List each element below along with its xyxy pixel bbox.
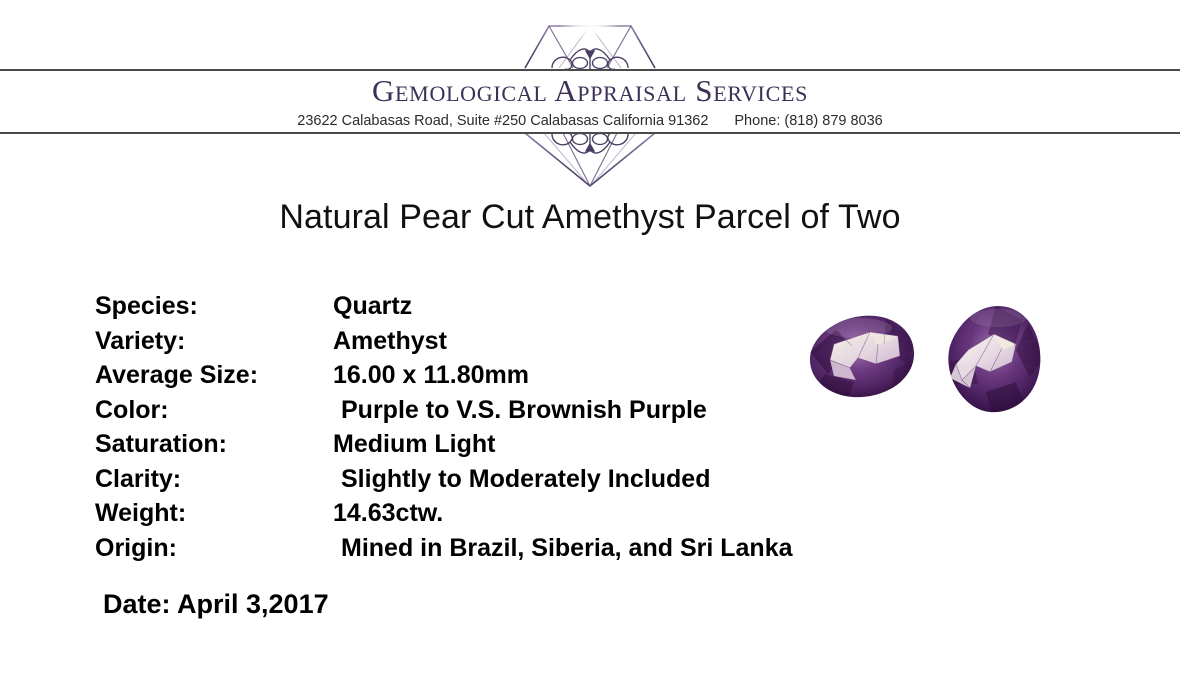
spec-label: Origin:: [95, 532, 177, 564]
spec-label: Average Size:: [95, 359, 258, 391]
spec-value: Medium Light: [333, 428, 495, 460]
spec-value: Mined in Brazil, Siberia, and Sri Lanka: [341, 532, 793, 564]
brand-name: Gemological Appraisal Services: [0, 74, 1180, 108]
spec-label: Variety:: [95, 325, 185, 357]
spec-row-origin: Origin: Mined in Brazil, Siberia, and Sr…: [95, 532, 895, 567]
spec-value: Amethyst: [333, 325, 447, 357]
spec-row-color: Color: Purple to V.S. Brownish Purple: [95, 394, 895, 429]
spec-row-variety: Variety: Amethyst: [95, 325, 895, 360]
certificate-header: Gemological Appraisal Services 23622 Cal…: [0, 0, 1180, 190]
spec-label: Color:: [95, 394, 169, 426]
spec-value: 16.00 x 11.80mm: [333, 359, 529, 391]
spec-row-weight: Weight: 14.63ctw.: [95, 497, 895, 532]
phone-text: Phone: (818) 879 8036: [734, 113, 882, 129]
appraisal-certificate-page: Gemological Appraisal Services 23622 Cal…: [0, 0, 1180, 673]
header-contact-line: 23622 Calabasas Road, Suite #250 Calabas…: [0, 112, 1180, 130]
spec-row-species: Species: Quartz: [95, 290, 895, 325]
address-text: 23622 Calabasas Road, Suite #250 Calabas…: [297, 113, 708, 129]
spec-row-saturation: Saturation: Medium Light: [95, 428, 895, 463]
gem-left: [810, 316, 916, 398]
spec-label: Clarity:: [95, 463, 181, 495]
spec-value: Purple to V.S. Brownish Purple: [341, 394, 707, 426]
spec-label: Species:: [95, 290, 198, 322]
spec-label: Saturation:: [95, 428, 227, 460]
amethyst-pear-pair-photo: [800, 300, 1050, 420]
gem-right: [948, 306, 1044, 414]
header-rule-bottom: [0, 132, 1180, 134]
header-rule-top: [0, 69, 1180, 71]
spec-row-average-size: Average Size: 16.00 x 11.80mm: [95, 359, 895, 394]
spec-value: Quartz: [333, 290, 412, 322]
gem-specification-list: Species: Quartz Variety: Amethyst Averag…: [95, 290, 895, 566]
appraisal-date: Date: April 3,2017: [103, 589, 329, 620]
spec-value: 14.63ctw.: [333, 497, 443, 529]
spec-value: Slightly to Moderately Included: [341, 463, 710, 495]
page-title: Natural Pear Cut Amethyst Parcel of Two: [0, 198, 1180, 237]
spec-row-clarity: Clarity: Slightly to Moderately Included: [95, 463, 895, 498]
spec-label: Weight:: [95, 497, 186, 529]
